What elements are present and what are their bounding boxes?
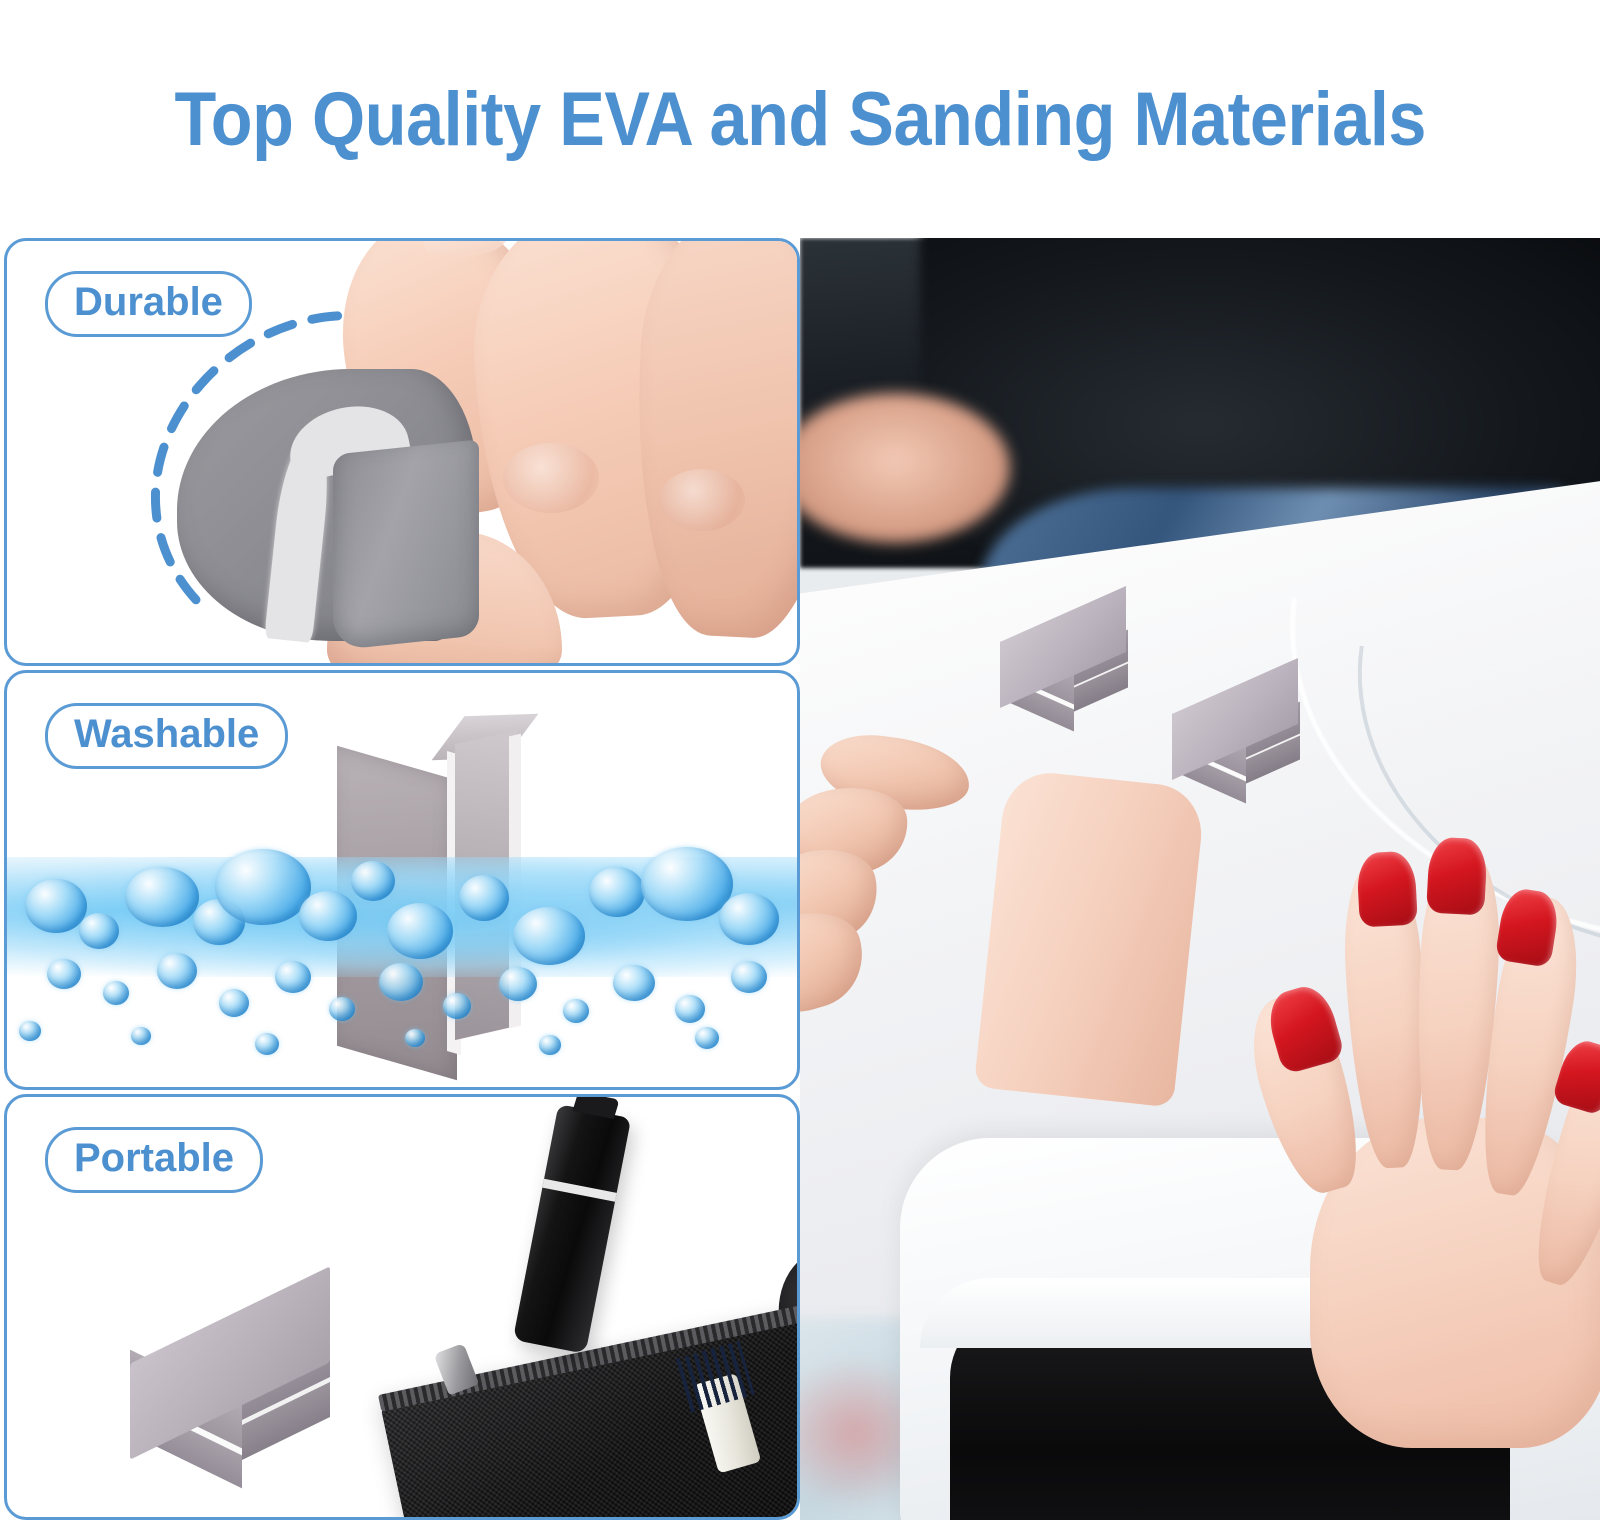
manicured-hand [1160,838,1600,1478]
fingertip-nail [420,238,512,263]
water-splash [7,821,797,1090]
water-bubble [275,961,311,993]
water-bubble [131,1027,151,1045]
water-bubble [103,981,129,1005]
water-bubble [563,999,589,1023]
water-bubble [405,1029,425,1047]
mascara-cap-tip [572,1094,619,1119]
water-bubble [25,879,87,933]
water-bubble [47,959,81,989]
water-bubble [255,1033,279,1055]
water-bubble [499,967,537,1001]
badge-durable: Durable [45,271,252,337]
water-bubble [157,953,197,989]
water-bubble [19,1021,41,1041]
red-nail [1356,851,1418,928]
water-bubble [695,1027,719,1049]
buffer-block-on-table [1150,686,1320,801]
water-bubble [675,995,705,1023]
water-bubble [215,849,311,925]
badge-portable: Portable [45,1127,263,1193]
mascara-silver-band [542,1179,616,1202]
water-bubble [613,965,655,1001]
lifestyle-photo-panel [800,238,1600,1520]
water-bubble [719,893,779,945]
feature-panel-portable: Portable [4,1094,800,1520]
water-bubble [351,861,395,901]
product-infographic: Top Quality EVA and Sanding Materials [0,0,1600,1524]
water-bubble [79,913,119,949]
page-title: Top Quality EVA and Sanding Materials [174,76,1425,163]
forearm [974,768,1206,1107]
water-bubble [299,891,357,941]
knuckle-crease [659,469,745,531]
feature-panel-washable: Washable [4,670,800,1090]
buffer-edge-face [333,439,479,650]
buffer-block-isometric [112,1315,352,1465]
mascara-tube [513,1104,631,1354]
water-bubble [641,847,733,921]
feature-panel-column: Durable [4,238,800,1520]
water-bubble [459,875,509,921]
buffer-block-on-table [978,614,1148,729]
water-bubble [731,961,767,993]
knuckle-crease [503,443,599,513]
content-area: Durable [0,238,1600,1524]
water-bubble [539,1035,561,1055]
water-bubble [329,997,355,1021]
water-bubble [125,867,199,927]
water-bubble [387,903,453,959]
bent-buffer-block [177,369,507,641]
water-bubble [443,993,471,1019]
red-nail [1426,837,1488,916]
badge-washable: Washable [45,703,288,769]
lifestyle-photo [800,238,1600,1520]
water-bubble [379,963,423,1001]
feature-panel-durable: Durable [4,238,800,666]
water-bubble [589,867,645,917]
water-bubble [219,989,249,1017]
page-header: Top Quality EVA and Sanding Materials [0,0,1600,238]
water-bubble [513,907,585,965]
